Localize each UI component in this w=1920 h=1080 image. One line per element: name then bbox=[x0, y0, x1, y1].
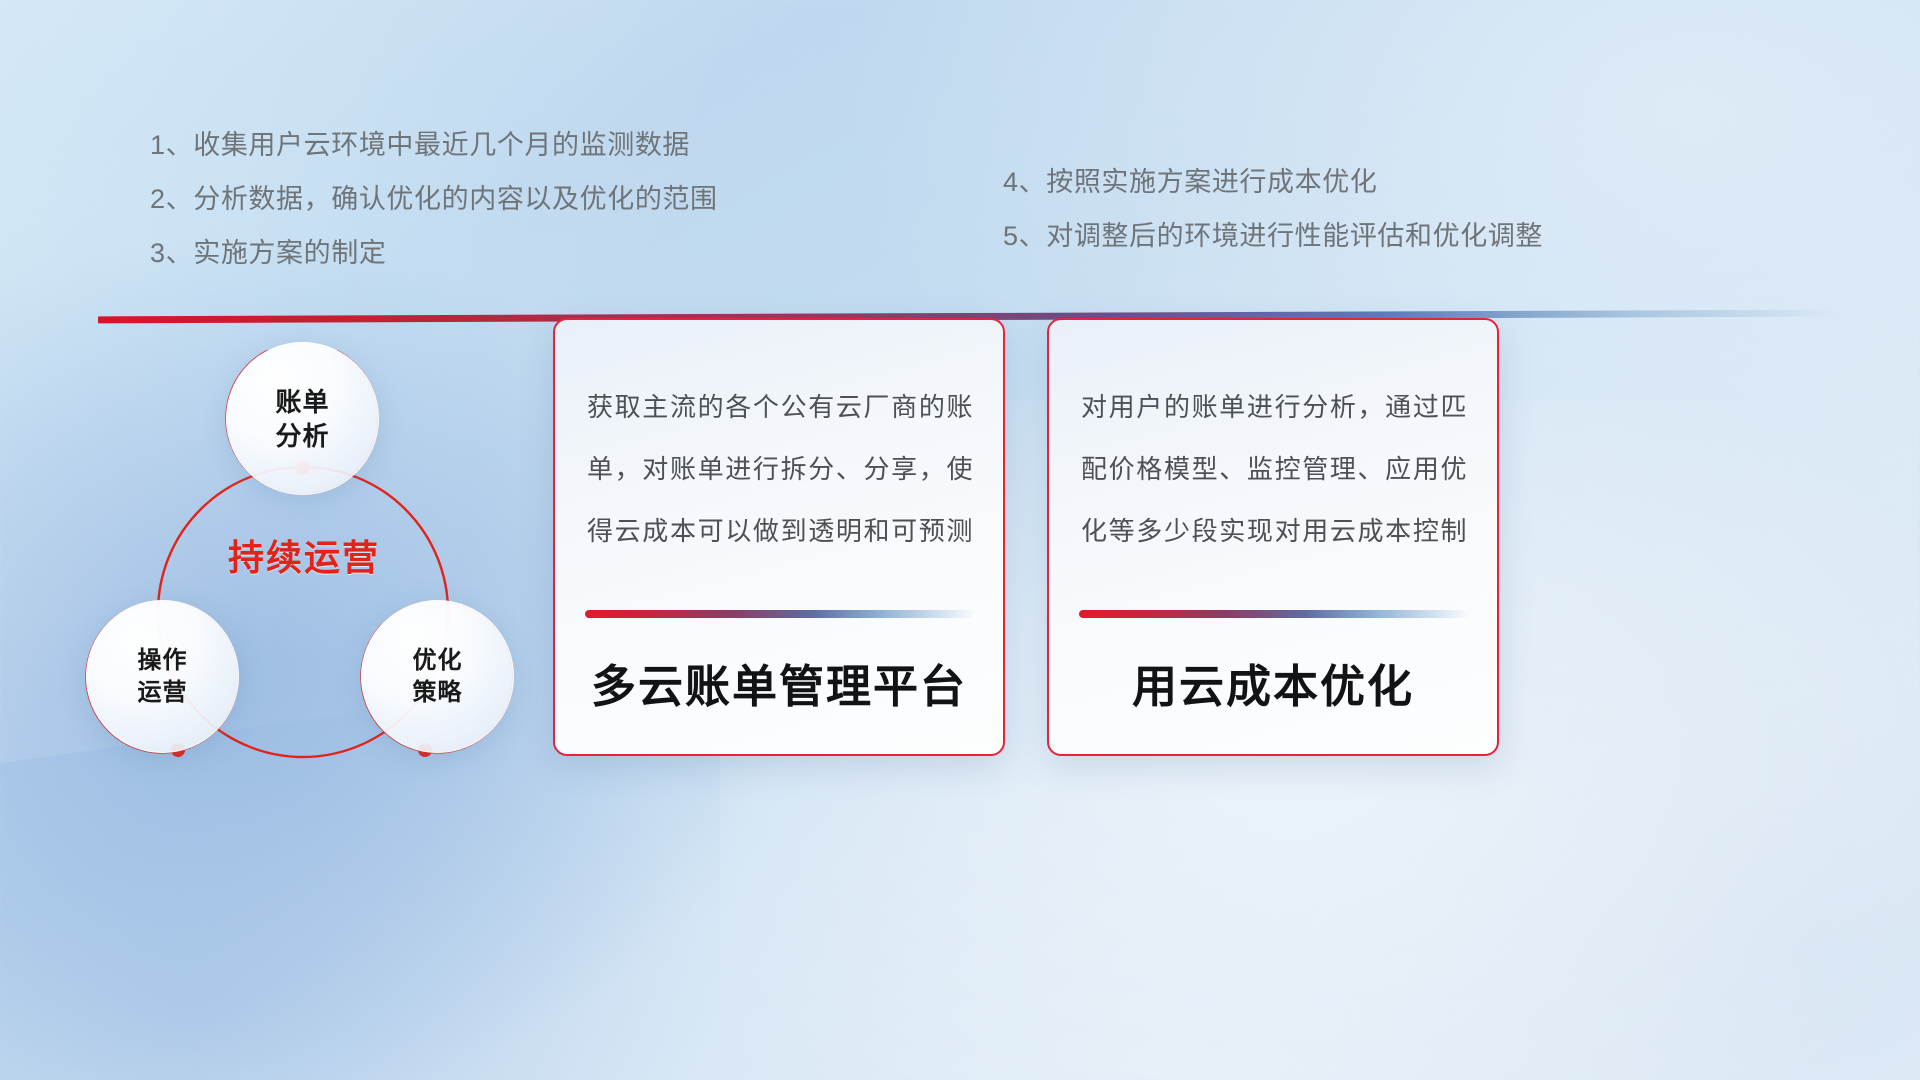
step-item: 2、分析数据，确认优化的内容以及优化的范围 bbox=[150, 172, 718, 226]
card-divider-rule bbox=[1079, 610, 1469, 618]
card-divider-rule bbox=[585, 610, 975, 618]
diagram-bubble-optimization-strategy[interactable]: 优化策略 bbox=[361, 600, 514, 753]
card-title: 多云账单管理平台 bbox=[555, 650, 1003, 715]
feature-card-multicloud-billing[interactable]: 获取主流的各个公有云厂商的账单，对账单进行拆分、分享，使得云成本可以做到透明和可… bbox=[553, 318, 1005, 756]
feature-card-cloud-cost-optimization[interactable]: 对用户的账单进行分析，通过匹配价格模型、监控管理、应用优化等多少段实现对用云成本… bbox=[1047, 318, 1499, 756]
card-title: 用云成本优化 bbox=[1049, 650, 1497, 715]
diagram-bubble-operation[interactable]: 操作运营 bbox=[86, 600, 239, 753]
diagram-bubble-bill-analysis[interactable]: 账单分析 bbox=[226, 342, 379, 495]
bubble-label: 操作运营 bbox=[138, 645, 188, 709]
step-item: 1、收集用户云环境中最近几个月的监测数据 bbox=[150, 118, 718, 172]
steps-column-left: 1、收集用户云环境中最近几个月的监测数据 2、分析数据，确认优化的内容以及优化的… bbox=[150, 118, 718, 280]
diagram-center-label: 持续运营 bbox=[214, 498, 394, 618]
step-item: 5、对调整后的环境进行性能评估和优化调整 bbox=[1003, 209, 1543, 263]
continuous-operation-diagram: 账单分析 操作运营 优化策略 持续运营 bbox=[85, 350, 565, 820]
step-item: 4、按照实施方案进行成本优化 bbox=[1003, 155, 1543, 209]
steps-section: 1、收集用户云环境中最近几个月的监测数据 2、分析数据，确认优化的内容以及优化的… bbox=[0, 0, 1920, 300]
step-item: 3、实施方案的制定 bbox=[150, 226, 718, 280]
card-body-text: 对用户的账单进行分析，通过匹配价格模型、监控管理、应用优化等多少段实现对用云成本… bbox=[1081, 376, 1467, 562]
bubble-label: 优化策略 bbox=[413, 645, 463, 709]
bubble-label: 账单分析 bbox=[275, 385, 329, 453]
steps-column-right: 4、按照实施方案进行成本优化 5、对调整后的环境进行性能评估和优化调整 bbox=[1003, 155, 1543, 263]
card-body-text: 获取主流的各个公有云厂商的账单，对账单进行拆分、分享，使得云成本可以做到透明和可… bbox=[587, 376, 973, 562]
